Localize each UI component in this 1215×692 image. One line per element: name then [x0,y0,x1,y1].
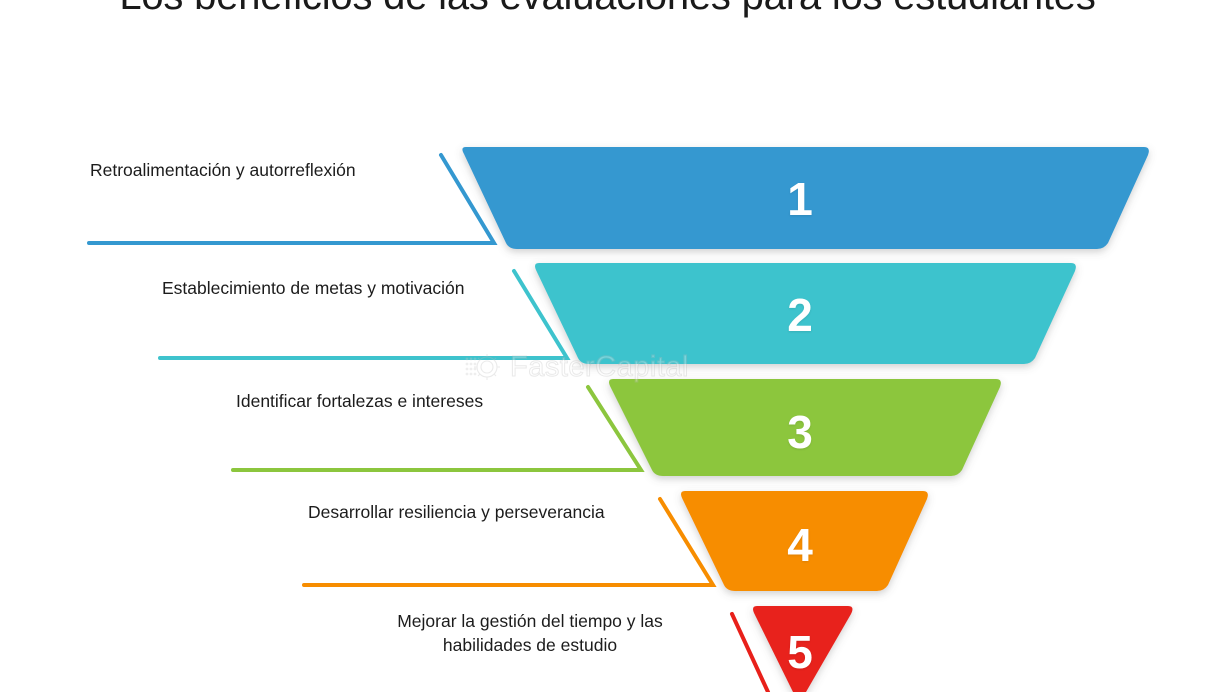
funnel-label-1: Retroalimentación y autorreflexión [90,159,356,183]
funnel-label-3: Identificar fortalezas e intereses [236,390,483,414]
funnel-number-4: 4 [760,518,840,572]
funnel-chart [0,0,1215,692]
funnel-number-3: 3 [760,405,840,459]
funnel-label-5: Mejorar la gestión del tiempo y las habi… [380,610,680,657]
funnel-number-1: 1 [760,172,840,226]
funnel-number-5: 5 [760,625,840,679]
funnel-number-2: 2 [760,288,840,342]
funnel-label-4: Desarrollar resiliencia y perseverancia [308,501,605,525]
slide-canvas: Los beneficios de las evaluaciones para … [0,0,1215,692]
funnel-label-2: Establecimiento de metas y motivación [162,277,465,301]
